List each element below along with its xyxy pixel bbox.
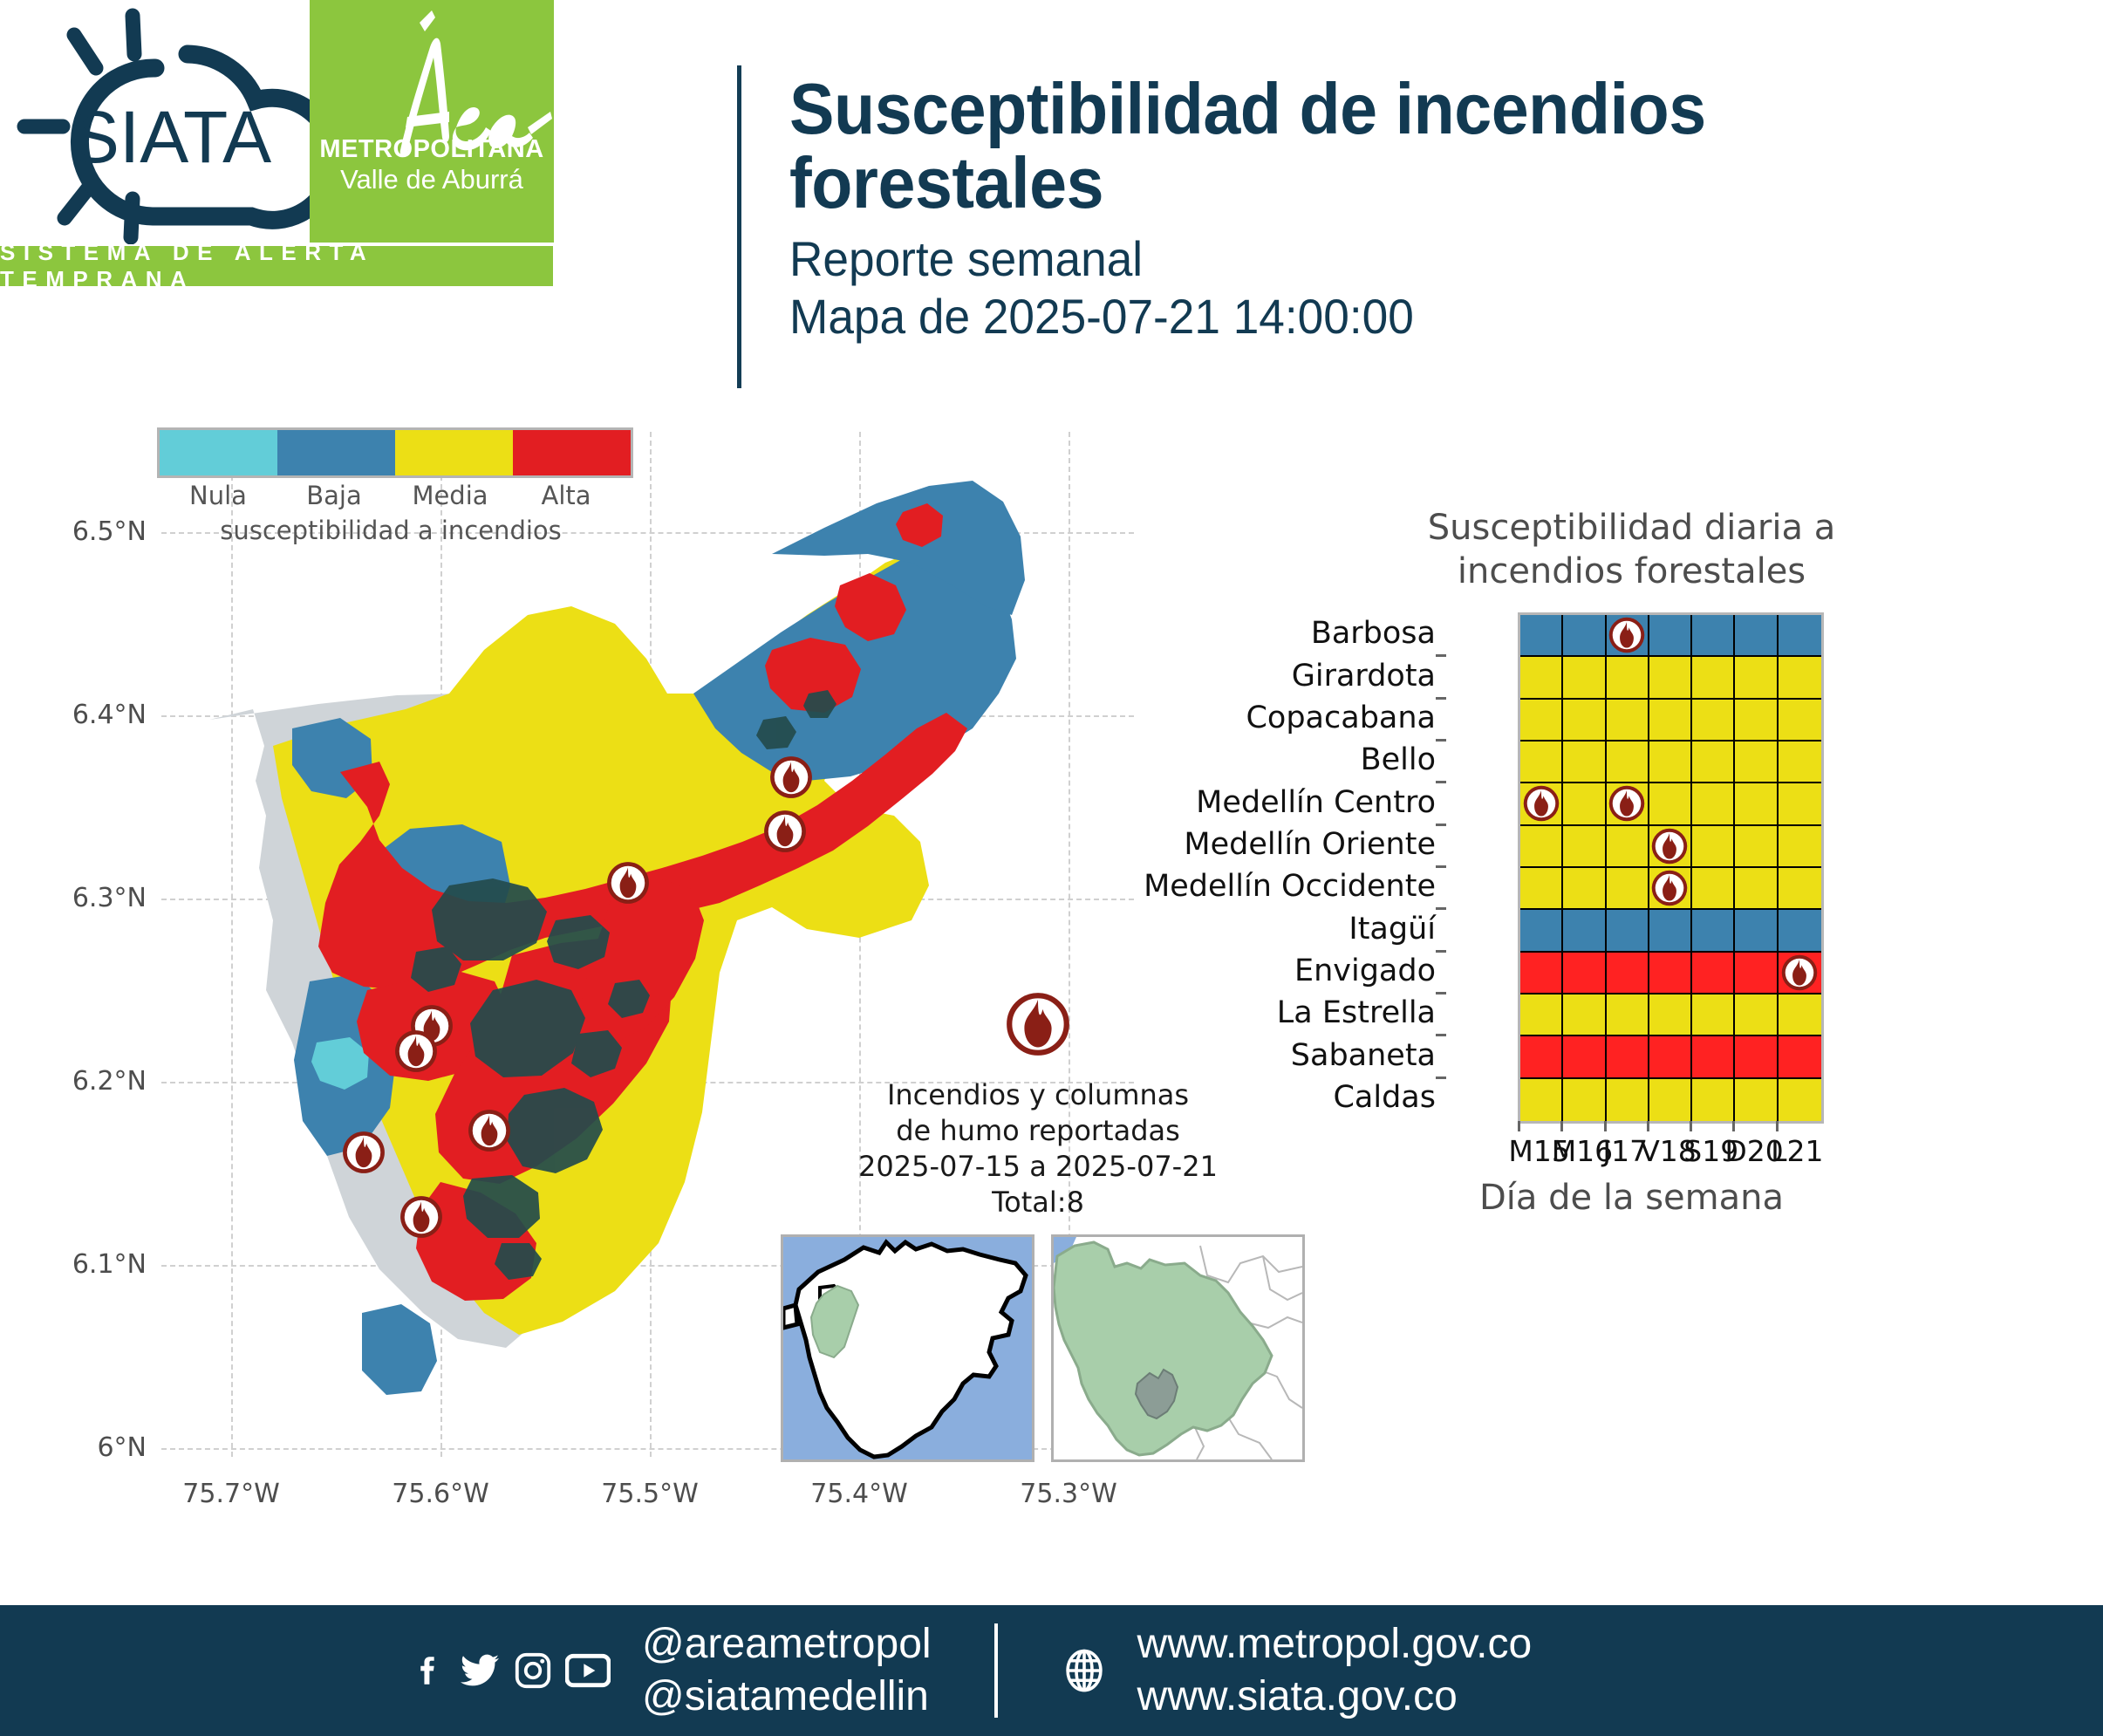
- heatmap-x-tick: [1647, 1121, 1649, 1131]
- heatmap-cell[interactable]: [1649, 742, 1692, 783]
- heatmap-y-tick: [1436, 654, 1446, 657]
- heatmap-cell[interactable]: [1692, 826, 1735, 868]
- heatmap-y-tick: [1436, 992, 1446, 994]
- colombia-outline-icon: [783, 1237, 1032, 1459]
- heatmap-cell[interactable]: [1563, 1079, 1606, 1121]
- heatmap-cell[interactable]: [1779, 1036, 1821, 1078]
- map-xtick: 75.7°W: [182, 1479, 279, 1509]
- heatmap-row-label: La Estrella: [1277, 995, 1436, 1030]
- heatmap-cell[interactable]: [1563, 868, 1606, 910]
- heatmap-cell[interactable]: [1779, 700, 1821, 742]
- heatmap-cell[interactable]: [1779, 783, 1821, 825]
- heatmap-cell[interactable]: [1563, 953, 1606, 994]
- heatmap-cell[interactable]: [1735, 615, 1778, 657]
- heatmap-cell[interactable]: [1692, 783, 1735, 825]
- area-logo-line2: Valle de Aburrá: [310, 164, 554, 195]
- heatmap-cell[interactable]: [1649, 868, 1692, 910]
- heatmap-cell[interactable]: [1649, 953, 1692, 994]
- heatmap-fire-marker: [1608, 784, 1646, 823]
- colorbar-swatch-media: [395, 430, 513, 475]
- heatmap-fire-marker: [1780, 953, 1819, 992]
- heatmap-cell[interactable]: [1779, 742, 1821, 783]
- heatmap-cell[interactable]: [1607, 742, 1649, 783]
- heatmap-y-tick: [1436, 907, 1446, 910]
- colorbar-swatch-alta: [513, 430, 631, 475]
- globe-icon: [1061, 1647, 1108, 1694]
- website-links: www.metropol.gov.co www.siata.gov.co: [1137, 1618, 1533, 1723]
- heatmap-fire-marker: [1522, 784, 1560, 823]
- heatmap-fire-marker: [1608, 616, 1646, 654]
- heatmap-cell[interactable]: [1735, 868, 1778, 910]
- fire-icon: [1650, 827, 1689, 865]
- heatmap-cell[interactable]: [1563, 994, 1606, 1036]
- heatmap-cell[interactable]: [1779, 994, 1821, 1036]
- heatmap-x-tick: [1604, 1121, 1607, 1131]
- heatmap-cell[interactable]: [1649, 994, 1692, 1036]
- heatmap-cell[interactable]: [1563, 615, 1606, 657]
- footer-divider: [994, 1623, 998, 1718]
- heatmap-row-label: Barbosa: [1311, 616, 1436, 651]
- youtube-icon[interactable]: [565, 1651, 611, 1690]
- map-fire-marker: [399, 1194, 444, 1240]
- heatmap-cell[interactable]: [1607, 700, 1649, 742]
- map-fire-marker: [341, 1130, 386, 1175]
- header-divider: [737, 65, 741, 388]
- siata-logo: SIATA METROPOLITANA Valle de Aburrá SIST…: [0, 0, 558, 279]
- fire-icon: [1608, 616, 1646, 654]
- map-fire-marker: [762, 809, 808, 854]
- inset-colombia-map: [781, 1234, 1034, 1462]
- website-metropol[interactable]: www.metropol.gov.co: [1137, 1618, 1533, 1671]
- heatmap-cell[interactable]: [1607, 826, 1649, 868]
- heatmap-cell[interactable]: [1692, 953, 1735, 994]
- fire-icon: [1608, 784, 1646, 823]
- heatmap-cell[interactable]: [1520, 700, 1563, 742]
- heatmap-row-label: Girardota: [1292, 659, 1436, 694]
- heatmap-cell[interactable]: [1607, 615, 1649, 657]
- heatmap-y-tick: [1436, 739, 1446, 742]
- map-ytick: 6.1°N: [72, 1249, 147, 1280]
- page-subtitle: Reporte semanal: [789, 230, 1991, 288]
- fire-icon: [1780, 953, 1819, 992]
- facebook-icon[interactable]: [410, 1650, 447, 1692]
- heatmap-fire-marker: [1650, 827, 1689, 865]
- heatmap-title: Susceptibilidad diaria aincendios forest…: [1160, 506, 2103, 593]
- heatmap-y-tick: [1436, 1076, 1446, 1079]
- heatmap-cell[interactable]: [1520, 783, 1563, 825]
- heatmap-cell[interactable]: [1735, 700, 1778, 742]
- heatmap-cell[interactable]: [1692, 910, 1735, 952]
- map-xtick: 75.3°W: [1020, 1479, 1116, 1509]
- fire-icon: [1522, 784, 1560, 823]
- heatmap-cell[interactable]: [1520, 994, 1563, 1036]
- heatmap-cell[interactable]: [1692, 868, 1735, 910]
- colorbar-caption: susceptibilidad a incendios: [220, 516, 562, 561]
- susceptibility-colorbar: Nula Baja Media Alta susceptibilidad a i…: [157, 427, 633, 478]
- map-ytick: 6.3°N: [72, 883, 147, 913]
- heatmap-cell[interactable]: [1779, 657, 1821, 699]
- heatmap-cell[interactable]: [1520, 1036, 1563, 1078]
- heatmap-cell[interactable]: [1520, 615, 1563, 657]
- footer: @areametropol @siatamedellin www.metropo…: [0, 1605, 2103, 1736]
- map-fire-marker: [768, 755, 814, 800]
- fire-icon: [341, 1130, 386, 1175]
- heatmap-cell[interactable]: [1735, 1036, 1778, 1078]
- heatmap-cell[interactable]: [1779, 615, 1821, 657]
- heatmap-cell[interactable]: [1692, 1079, 1735, 1121]
- heatmap-cell[interactable]: [1563, 657, 1606, 699]
- heatmap-row-label: Medellín Centro: [1196, 785, 1436, 820]
- heatmap-cell[interactable]: [1692, 700, 1735, 742]
- heatmap-col-label: L21: [1771, 1134, 1823, 1168]
- twitter-icon[interactable]: [459, 1650, 501, 1692]
- heatmap-row-label: Sabaneta: [1291, 1038, 1436, 1073]
- heatmap-row-label: Itagüí: [1349, 912, 1436, 947]
- area-metropolitana-logo: METROPOLITANA Valle de Aburrá: [310, 0, 554, 243]
- heatmap-cell[interactable]: [1735, 953, 1778, 994]
- heatmap-cell[interactable]: [1607, 868, 1649, 910]
- heatmap-cell[interactable]: [1735, 994, 1778, 1036]
- heatmap-cell[interactable]: [1692, 742, 1735, 783]
- area-logo-text: METROPOLITANA Valle de Aburrá: [310, 134, 554, 195]
- heatmap-cell[interactable]: [1692, 1036, 1735, 1078]
- colorbar-swatch-baja: [277, 430, 395, 475]
- map-timestamp: Mapa de 2025-07-21 14:00:00: [789, 288, 1991, 345]
- map-ytick: 6.2°N: [72, 1066, 147, 1097]
- fire-icon: [399, 1194, 444, 1240]
- heatmap-cell[interactable]: [1563, 1036, 1606, 1078]
- fire-icon: [605, 860, 651, 906]
- map-xtick: 75.4°W: [810, 1479, 907, 1509]
- heatmap-x-tick: [1732, 1121, 1735, 1131]
- fire-icon: [768, 755, 814, 800]
- heatmap-cell[interactable]: [1520, 657, 1563, 699]
- heatmap-cell[interactable]: [1607, 1036, 1649, 1078]
- heatmap-x-tick: [1518, 1121, 1520, 1131]
- heatmap-cell[interactable]: [1520, 953, 1563, 994]
- heatmap-cell[interactable]: [1649, 826, 1692, 868]
- heatmap-cell[interactable]: [1563, 910, 1606, 952]
- map-xtick: 75.5°W: [601, 1479, 698, 1509]
- heatmap-cell[interactable]: [1520, 826, 1563, 868]
- heatmap-cell[interactable]: [1607, 994, 1649, 1036]
- heatmap-row-label: Bello: [1361, 742, 1436, 777]
- siata-tagline: SISTEMA DE ALERTA TEMPRANA: [0, 246, 553, 286]
- heatmap-y-tick: [1436, 1034, 1446, 1036]
- heatmap-row-label: Copacabana: [1246, 701, 1436, 735]
- heatmap-cell[interactable]: [1649, 657, 1692, 699]
- heatmap-cell[interactable]: [1649, 615, 1692, 657]
- handle-areametropol[interactable]: @areametropol: [642, 1618, 932, 1671]
- heatmap-cell[interactable]: [1779, 953, 1821, 994]
- heatmap-cell[interactable]: [1563, 742, 1606, 783]
- heatmap-row-label: Medellín Occidente: [1144, 869, 1436, 904]
- heatmap-cell[interactable]: [1779, 1079, 1821, 1121]
- header: SIATA METROPOLITANA Valle de Aburrá SIST…: [0, 0, 2103, 410]
- heatmap-cell[interactable]: [1692, 615, 1735, 657]
- heatmap-cell[interactable]: [1563, 783, 1606, 825]
- map-ytick: 6.4°N: [72, 700, 147, 730]
- heatmap-cell[interactable]: [1735, 742, 1778, 783]
- heatmap-grid[interactable]: [1518, 612, 1824, 1124]
- heatmap-cell[interactable]: [1607, 910, 1649, 952]
- map-fire-marker: [393, 1029, 439, 1074]
- heatmap-row-label: Envigado: [1294, 953, 1436, 988]
- map-fire-marker: [605, 860, 651, 906]
- heatmap-cell[interactable]: [1607, 657, 1649, 699]
- heatmap-panel: Susceptibilidad diaria aincendios forest…: [1160, 410, 2103, 1544]
- heatmap-y-tick: [1436, 865, 1446, 868]
- heatmap-cell[interactable]: [1607, 783, 1649, 825]
- social-handles: @areametropol @siatamedellin: [642, 1618, 932, 1723]
- colorbar-swatch-nula: [160, 430, 277, 475]
- heatmap-y-tick: [1436, 950, 1446, 953]
- fire-icon: [762, 809, 808, 854]
- handle-siatamedellin[interactable]: @siatamedellin: [642, 1671, 932, 1723]
- heatmap-cell[interactable]: [1779, 826, 1821, 868]
- heatmap-cell[interactable]: [1520, 910, 1563, 952]
- heatmap-cell[interactable]: [1779, 868, 1821, 910]
- heatmap-row-label: Medellín Oriente: [1184, 827, 1436, 862]
- heatmap-cell[interactable]: [1520, 742, 1563, 783]
- heatmap-x-tick: [1560, 1121, 1563, 1131]
- fire-icon: [467, 1108, 512, 1153]
- heatmap-y-tick: [1436, 824, 1446, 826]
- heatmap-cell[interactable]: [1563, 826, 1606, 868]
- heatmap-cell[interactable]: [1735, 826, 1778, 868]
- map-ytick: 6.5°N: [72, 516, 147, 547]
- heatmap-title-line1: Susceptibilidad diaria a: [1160, 506, 2103, 550]
- siata-wordmark: SIATA: [71, 96, 271, 178]
- heatmap-cell[interactable]: [1692, 994, 1735, 1036]
- heatmap-cell[interactable]: [1692, 657, 1735, 699]
- heatmap-cell[interactable]: [1649, 910, 1692, 952]
- heatmap-cell[interactable]: [1735, 1079, 1778, 1121]
- heatmap-row-label: Caldas: [1333, 1080, 1436, 1115]
- heatmap-cell[interactable]: [1563, 700, 1606, 742]
- website-siata[interactable]: www.siata.gov.co: [1137, 1671, 1533, 1723]
- map-fire-marker: [467, 1108, 512, 1153]
- map-xtick: 75.6°W: [392, 1479, 488, 1509]
- heatmap-cell[interactable]: [1649, 1079, 1692, 1121]
- heatmap-cell[interactable]: [1649, 700, 1692, 742]
- heatmap-cell[interactable]: [1607, 1079, 1649, 1121]
- heatmap-x-tick: [1776, 1121, 1779, 1131]
- title-block: Susceptibilidad de incendiosforestales R…: [789, 72, 2054, 345]
- map-axes: 6.5°N 6.4°N 6.3°N 6.2°N 6.1°N 6°N 75.7°W…: [161, 432, 1134, 1457]
- instagram-icon[interactable]: [513, 1651, 553, 1691]
- area-logo-line1: METROPOLITANA: [310, 134, 554, 164]
- heatmap-y-tick: [1436, 697, 1446, 700]
- page-title: Susceptibilidad de incendiosforestales: [789, 72, 1966, 220]
- fire-icon: [1650, 869, 1689, 907]
- heatmap-x-axis-label: Día de la semana: [1160, 1178, 2103, 1218]
- fire-icon: [1004, 990, 1072, 1058]
- map-ytick: 6°N: [97, 1432, 147, 1463]
- map-panel: 6.5°N 6.4°N 6.3°N 6.2°N 6.1°N 6°N 75.7°W…: [0, 410, 1160, 1544]
- heatmap-cell[interactable]: [1607, 953, 1649, 994]
- heatmap-cell[interactable]: [1520, 1079, 1563, 1121]
- heatmap-cell[interactable]: [1735, 783, 1778, 825]
- fire-icon: [393, 1029, 439, 1074]
- heatmap-fire-marker: [1650, 869, 1689, 907]
- heatmap-x-tick: [1690, 1121, 1692, 1131]
- heatmap-cell[interactable]: [1649, 1036, 1692, 1078]
- heatmap-title-line2: incendios forestales: [1160, 550, 2103, 593]
- heatmap-cell[interactable]: [1735, 657, 1778, 699]
- social-icons: [410, 1650, 611, 1692]
- heatmap-cell[interactable]: [1779, 910, 1821, 952]
- heatmap-cell[interactable]: [1520, 868, 1563, 910]
- heatmap-cell[interactable]: [1735, 910, 1778, 952]
- heatmap-y-tick: [1436, 781, 1446, 783]
- heatmap-cell[interactable]: [1649, 783, 1692, 825]
